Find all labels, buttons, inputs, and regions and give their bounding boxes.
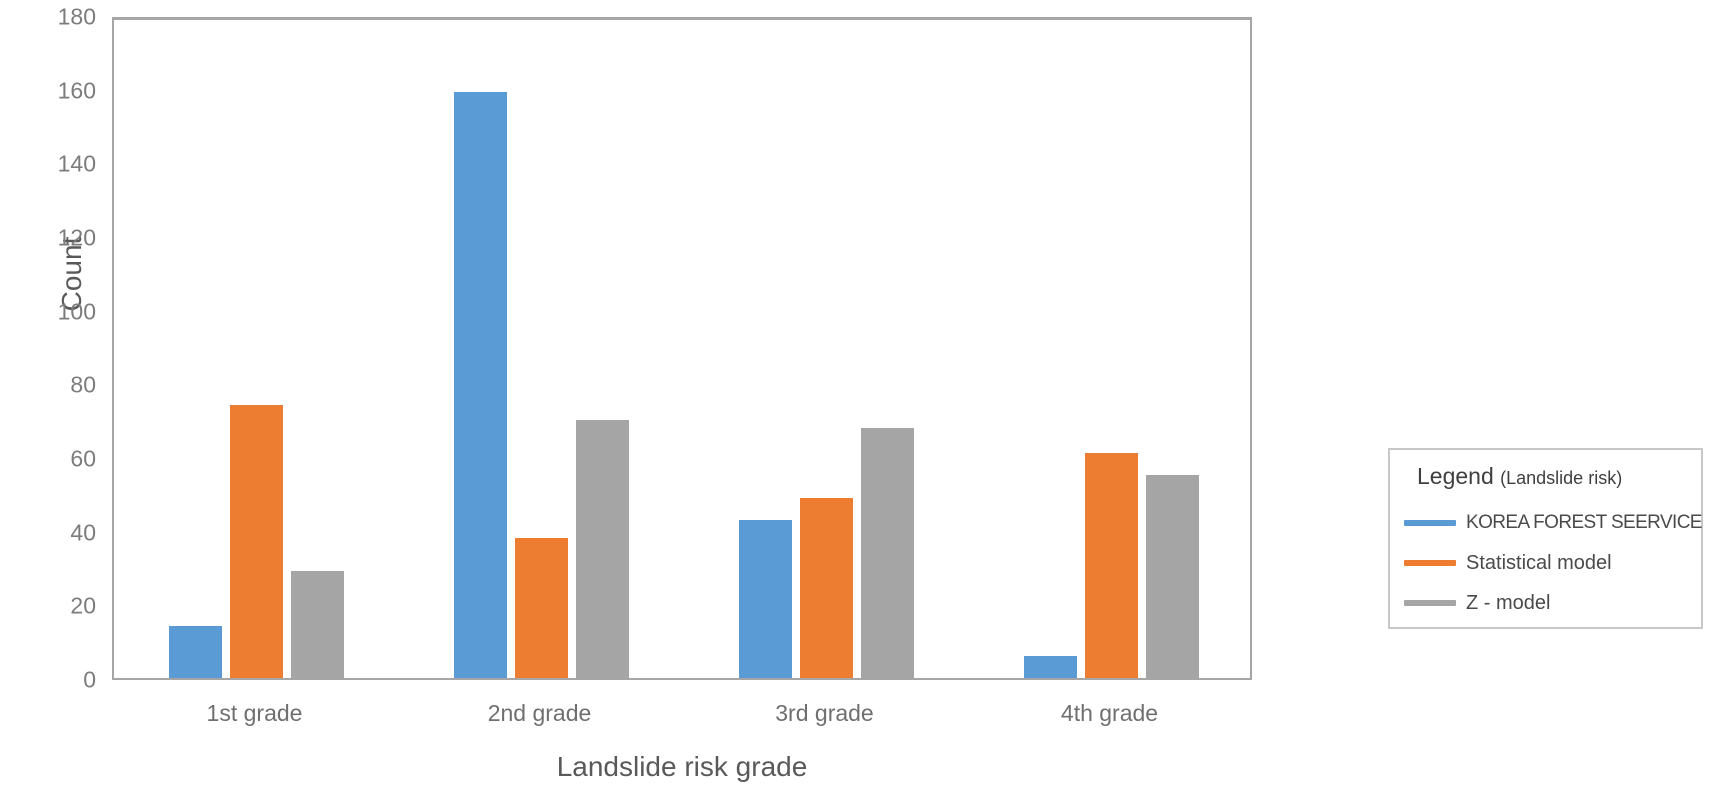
x-axis-tick-label: 2nd grade <box>488 700 592 727</box>
y-axis-tick-label: 100 <box>58 298 96 325</box>
y-axis-tick-label: 20 <box>70 593 96 620</box>
legend-color-swatch <box>1404 600 1456 606</box>
bar-group <box>399 20 684 678</box>
legend-items: KOREA FOREST SEERVICEStatistical modelZ … <box>1390 503 1701 623</box>
legend-box: Legend (Landslide risk) KOREA FOREST SEE… <box>1388 448 1703 629</box>
legend-title-sub: (Landslide risk) <box>1500 468 1622 488</box>
bar[interactable] <box>515 538 568 678</box>
bar[interactable] <box>1146 475 1199 678</box>
bar[interactable] <box>739 520 792 678</box>
x-axis-tick-labels: 1st grade2nd grade3rd grade4th grade <box>112 700 1252 734</box>
legend-title: Legend (Landslide risk) <box>1390 464 1701 489</box>
bar[interactable] <box>800 498 853 678</box>
legend-title-main: Legend <box>1417 463 1494 489</box>
y-axis-tick-label: 80 <box>70 372 96 399</box>
y-axis-tick-label: 0 <box>83 667 96 694</box>
bar[interactable] <box>169 626 222 678</box>
bars-container <box>114 20 1250 678</box>
y-axis-tick-label: 140 <box>58 151 96 178</box>
bar-group <box>114 20 399 678</box>
bar[interactable] <box>291 571 344 678</box>
legend-color-swatch <box>1404 520 1456 526</box>
legend-item[interactable]: Statistical model <box>1390 543 1701 583</box>
bar-group <box>684 20 969 678</box>
bar[interactable] <box>576 420 629 678</box>
legend-item-label: KOREA FOREST SEERVICE <box>1466 512 1702 534</box>
legend-item[interactable]: KOREA FOREST SEERVICE <box>1390 503 1701 543</box>
x-axis-title: Landslide risk grade <box>112 751 1252 783</box>
bar-group <box>969 20 1254 678</box>
legend-color-swatch <box>1404 560 1456 566</box>
y-axis-tick-label: 180 <box>58 4 96 31</box>
y-axis-tick-label: 40 <box>70 519 96 546</box>
legend-item[interactable]: Z - model <box>1390 583 1701 623</box>
legend-item-label: Statistical model <box>1466 552 1612 575</box>
legend-item-label: Z - model <box>1466 592 1550 615</box>
plot-area <box>112 17 1252 680</box>
bar[interactable] <box>454 92 507 678</box>
y-axis-tick-labels: 020406080100120140160180 <box>36 17 104 680</box>
bar[interactable] <box>861 428 914 678</box>
y-axis-tick-label: 60 <box>70 446 96 473</box>
bar[interactable] <box>1024 656 1077 678</box>
x-axis-tick-label: 3rd grade <box>775 700 873 727</box>
y-axis-tick-label: 160 <box>58 77 96 104</box>
bar[interactable] <box>230 405 283 678</box>
chart-figure: Count 020406080100120140160180 1st grade… <box>0 0 1709 801</box>
x-axis-tick-label: 1st grade <box>207 700 303 727</box>
bar[interactable] <box>1085 453 1138 678</box>
x-axis-tick-label: 4th grade <box>1061 700 1158 727</box>
y-axis-tick-label: 120 <box>58 225 96 252</box>
